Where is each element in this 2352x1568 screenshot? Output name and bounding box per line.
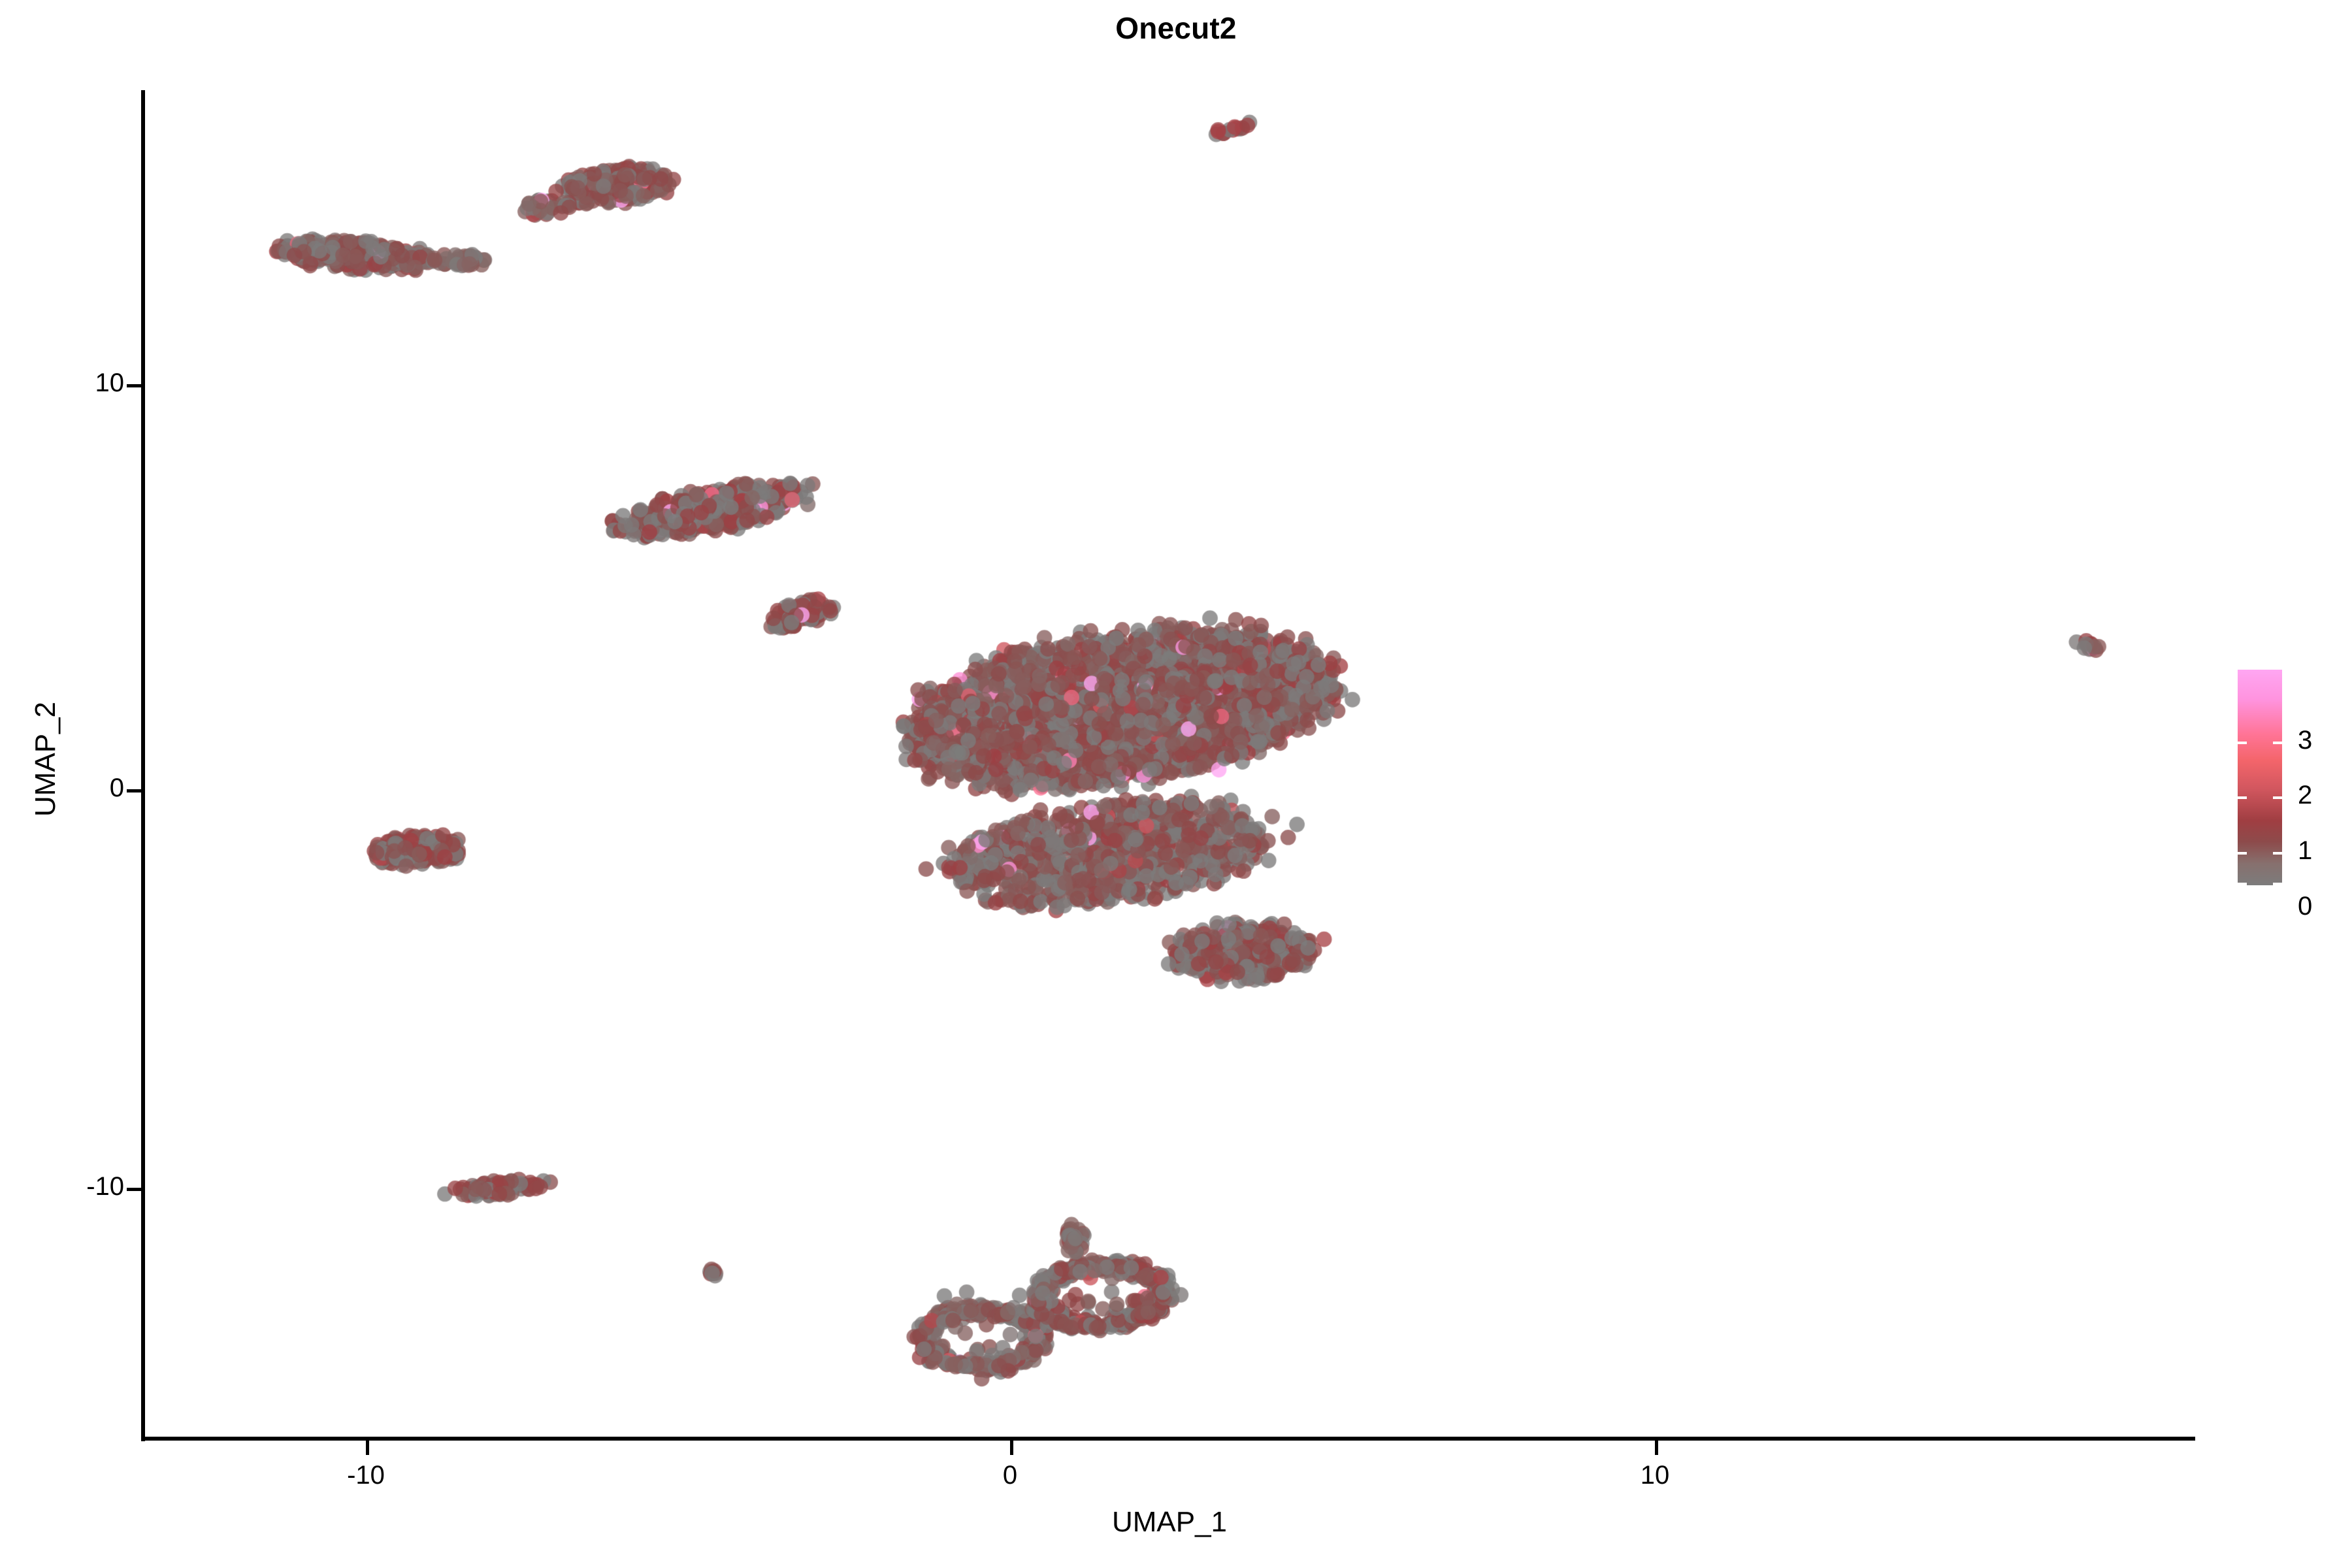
legend-label-2: 2 [2298, 782, 2312, 808]
legend-tick-0-right [2273, 883, 2282, 885]
legend-label-1: 1 [2298, 838, 2312, 864]
x-tick-label-0: 0 [945, 1462, 1075, 1488]
x-tick-mark-10 [1655, 1441, 1658, 1455]
y-tick-mark-0 [127, 789, 141, 792]
x-tick-label-neg10: -10 [301, 1462, 431, 1488]
legend-tick-1-right [2273, 852, 2282, 855]
y-tick-label-10: 10 [95, 370, 125, 396]
legend-tick-3-right [2273, 742, 2282, 744]
legend-tick-1-left [2238, 852, 2247, 855]
y-axis-title: UMAP_2 [31, 367, 60, 1151]
legend-tick-3-left [2238, 742, 2247, 744]
x-axis-line [141, 1437, 2195, 1441]
page-title: Onecut2 [144, 13, 2208, 43]
y-axis-line [141, 90, 145, 1441]
scatter-plot-panel [144, 90, 2195, 1439]
y-tick-label-0: 0 [110, 775, 124, 801]
scatter-points-canvas [144, 90, 2195, 1439]
y-tick-mark-10 [127, 384, 141, 387]
feature-plot-figure: Onecut2 10 0 -10 -10 0 10 UMAP_1 UMAP_2 … [0, 0, 2352, 1568]
legend-label-3: 3 [2298, 727, 2312, 753]
color-legend: 3 2 1 0 [2238, 657, 2349, 898]
x-axis-title: UMAP_1 [144, 1508, 2195, 1537]
legend-label-0: 0 [2298, 893, 2312, 919]
x-tick-label-10: 10 [1590, 1462, 1720, 1488]
legend-tick-2-right [2273, 796, 2282, 799]
y-tick-mark-neg10 [127, 1188, 141, 1191]
y-tick-label-neg10: -10 [86, 1173, 124, 1200]
x-tick-mark-0 [1010, 1441, 1013, 1455]
legend-tick-2-left [2238, 796, 2247, 799]
legend-tick-0-left [2238, 883, 2247, 885]
x-tick-mark-neg10 [366, 1441, 369, 1455]
